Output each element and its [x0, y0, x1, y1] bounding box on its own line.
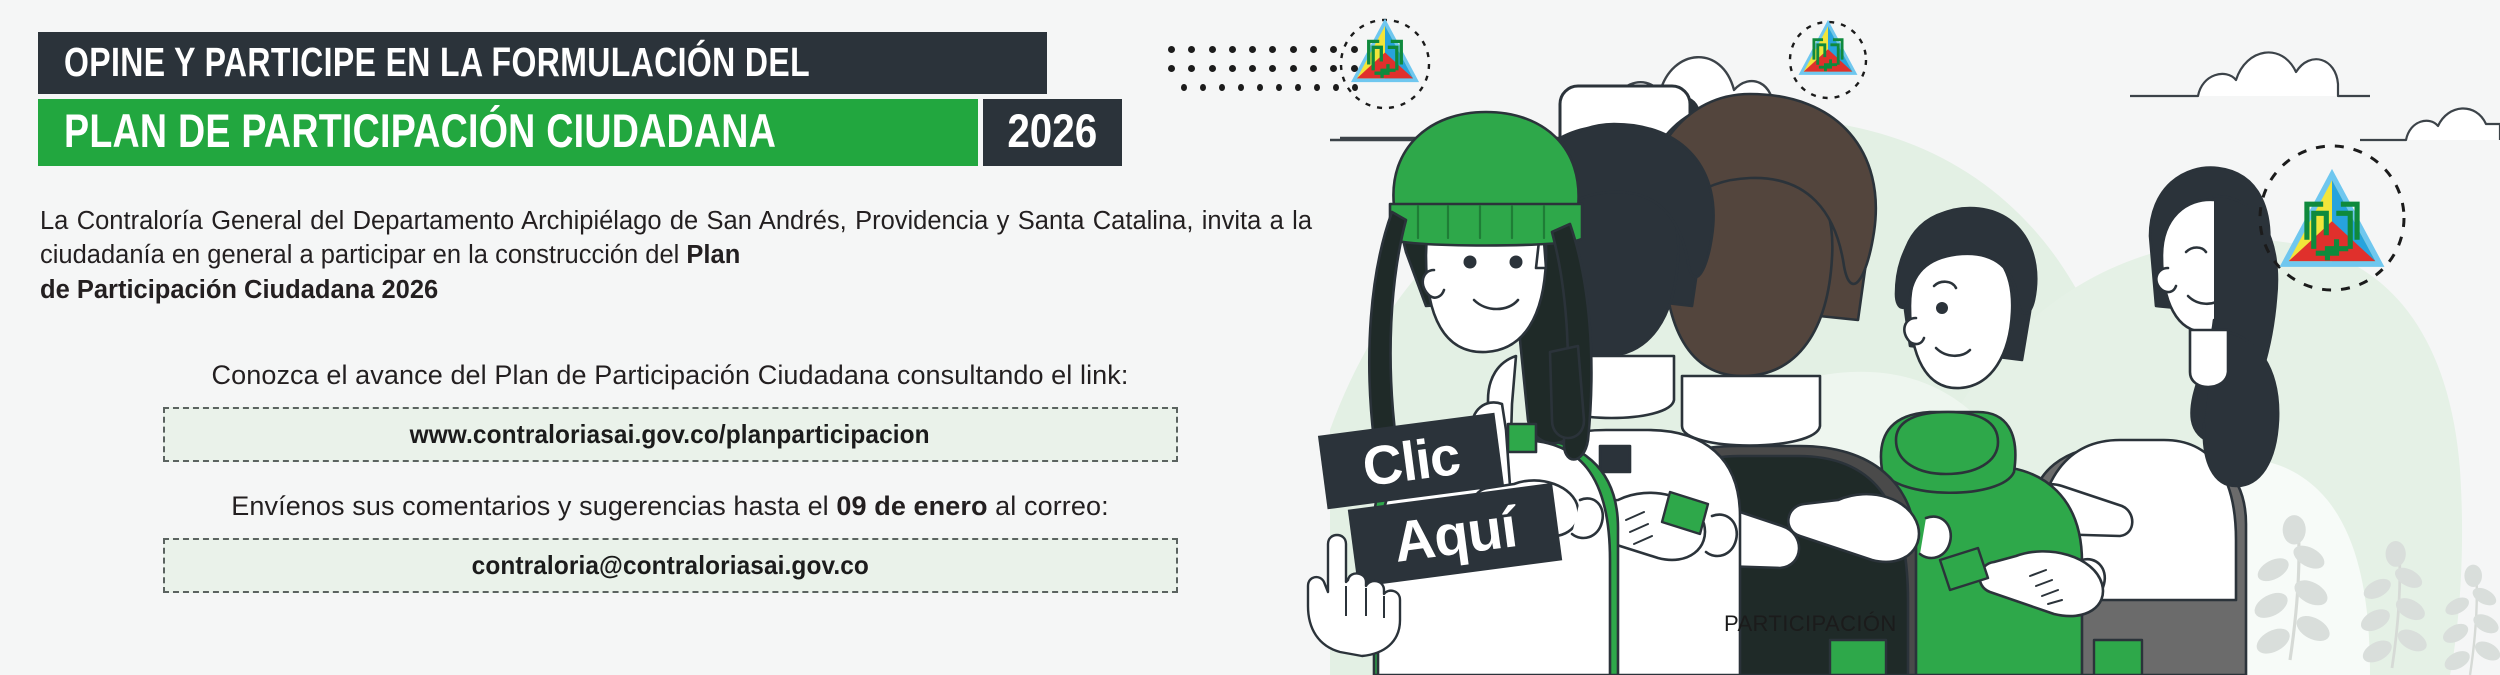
dot [1168, 65, 1175, 72]
content-column: OPINE Y PARTICIPE EN LA FORMULACIÓN DEL … [0, 0, 1400, 675]
dot [1257, 84, 1263, 91]
intro-line-1: La Contraloría General del Departamento … [40, 207, 1009, 235]
dot [1219, 84, 1225, 91]
dot [1229, 46, 1236, 53]
intro-line-3: de Participación Ciudadana 2026 [40, 276, 438, 304]
dot [1249, 46, 1256, 53]
dot [1188, 65, 1195, 72]
contact-lead-before: Envíenos sus comentarios y sugerencias h… [231, 491, 836, 521]
dot [1351, 46, 1358, 53]
email-field[interactable]: contraloria@contraloriasai.gov.co [163, 538, 1178, 593]
year-badge-text: 2026 [1007, 107, 1097, 154]
cta-line-1-text[interactable]: Clic [1359, 427, 1462, 494]
contact-lead-after: al correo: [988, 491, 1109, 521]
clic-aqui-cta[interactable]: Clic Aquí [1300, 424, 1600, 644]
dot [1269, 65, 1276, 72]
email-text[interactable]: contraloria@contraloriasai.gov.co [471, 550, 868, 581]
dot [1168, 46, 1175, 53]
dot [1352, 84, 1358, 91]
headline-line-2: PLAN DE PARTICIPACIÓN CIUDADANA [38, 99, 978, 166]
dot [1229, 65, 1236, 72]
dot [1330, 65, 1337, 72]
dot [1249, 65, 1256, 72]
dot [1290, 65, 1297, 72]
dot [1310, 65, 1317, 72]
pointing-hand-cursor-icon [1300, 524, 1410, 659]
dot [1276, 84, 1282, 91]
illustration-caption: PARTICIPACIÓN [1724, 611, 1897, 637]
dot [1330, 46, 1337, 53]
contact-deadline: 09 de enero [836, 491, 987, 521]
dot [1333, 84, 1339, 91]
dot [1238, 84, 1244, 91]
website-url-field[interactable]: www.contraloriasai.gov.co/planparticipac… [163, 407, 1178, 462]
website-url-text[interactable]: www.contraloriasai.gov.co/planparticipac… [410, 419, 930, 450]
headline-line-1: OPINE Y PARTICIPE EN LA FORMULACIÓN DEL [38, 32, 1047, 94]
link-lead-text: Conozca el avance del Plan de Participac… [0, 360, 1340, 391]
dot [1351, 65, 1358, 72]
dot [1209, 65, 1216, 72]
dot-grid-row [1168, 46, 1358, 53]
headline-block: OPINE Y PARTICIPE EN LA FORMULACIÓN DEL … [38, 32, 1122, 166]
dot [1295, 84, 1301, 91]
intro-paragraph: La Contraloría General del Departamento … [40, 205, 1312, 308]
dot [1290, 46, 1297, 53]
dot [1200, 84, 1206, 91]
dot-grid-row [1168, 84, 1358, 91]
dot [1269, 46, 1276, 53]
banner-root: OPINE Y PARTICIPE EN LA FORMULACIÓN DEL … [0, 0, 2500, 675]
dot [1209, 46, 1216, 53]
contact-lead-text: Envíenos sus comentarios y sugerencias h… [0, 491, 1340, 522]
dot [1314, 84, 1320, 91]
year-badge: 2026 [983, 99, 1122, 166]
dot [1181, 84, 1187, 91]
headline-line-1-text: OPINE Y PARTICIPE EN LA FORMULACIÓN DEL [64, 41, 810, 83]
dot [1310, 46, 1317, 53]
headline-line-2-text: PLAN DE PARTICIPACIÓN CIUDADANA [64, 107, 776, 154]
dot-grid-decoration [1168, 46, 1358, 103]
links-block: Conozca el avance del Plan de Participac… [0, 360, 1340, 593]
intro-line-2-bold: Plan [686, 241, 740, 269]
dot-grid-row [1168, 65, 1358, 72]
dot [1188, 46, 1195, 53]
